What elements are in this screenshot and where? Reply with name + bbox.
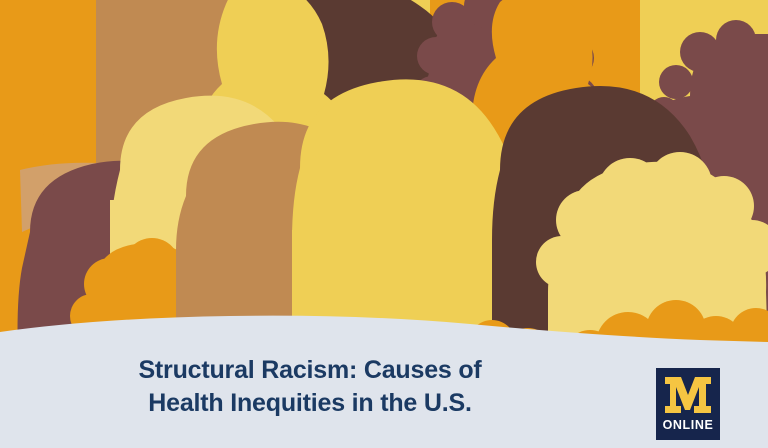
diverse-profile-silhouettes-artwork — [0, 0, 768, 360]
caption-bar: Structural Racism: Causes of Health Ineq… — [0, 336, 768, 448]
michigan-m-icon — [664, 374, 712, 416]
title-line-1: Structural Racism: Causes of — [0, 354, 620, 387]
page-title: Structural Racism: Causes of Health Ineq… — [0, 354, 620, 420]
title-line-2: Health Inequities in the U.S. — [0, 387, 620, 420]
course-promo-banner: Structural Racism: Causes of Health Ineq… — [0, 0, 768, 448]
silhouette-illustration — [0, 0, 768, 360]
university-of-michigan-online-logo: ONLINE — [656, 368, 720, 440]
logo-wordmark: ONLINE — [663, 418, 714, 432]
